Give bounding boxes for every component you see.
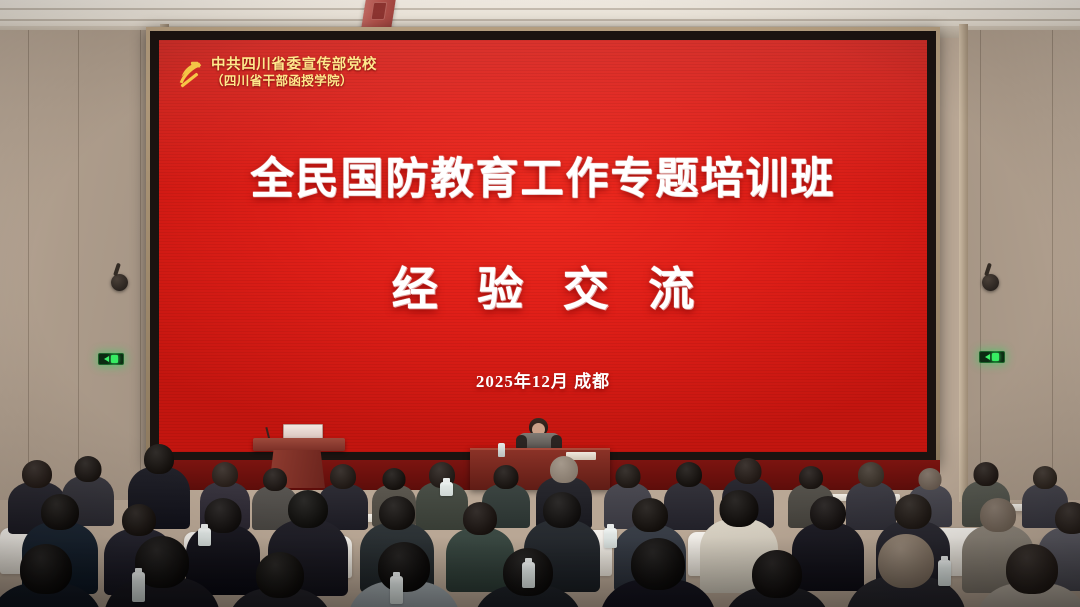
audience-member-head (858, 462, 884, 487)
water-bottle-icon (198, 528, 211, 546)
audience-member-head (383, 468, 406, 490)
audience-member-head (256, 552, 304, 598)
audience-member-head (799, 466, 823, 489)
water-bottle-icon (440, 482, 453, 496)
brand-line-1: 中共四川省委宣传部党校 (211, 57, 377, 74)
audience-member-head (330, 464, 356, 489)
brand-line-2: （四川省干部函授学院） (211, 74, 377, 88)
presentation-title: 全民国防教育工作专题培训班 (159, 144, 927, 206)
audience-member-head (543, 492, 581, 528)
audience-member-head (632, 498, 668, 532)
conference-hall-photo: 中共四川省委宣传部党校 （四川省干部函授学院） 全民国防教育工作专题培训班 经 … (0, 0, 1080, 607)
audience-area (0, 432, 1080, 607)
bottle-cap (941, 556, 948, 561)
bottle-cap (201, 524, 208, 529)
water-bottle-icon (938, 560, 951, 586)
audience-member-head (205, 498, 242, 533)
audience-member-head (494, 465, 519, 489)
left-arrow-icon (985, 354, 990, 360)
audience-member-head (980, 498, 1016, 532)
water-bottle-icon (604, 528, 617, 548)
audience-member-head (1033, 466, 1057, 489)
audience-member-head (974, 462, 999, 486)
audience-member-head (463, 502, 497, 535)
running-person-icon (992, 353, 999, 361)
audience-member-head (631, 538, 685, 590)
audience-member-head (895, 494, 932, 529)
ceiling-lamp-icon (371, 2, 388, 20)
audience-member-head (752, 550, 802, 598)
audience-member-head (122, 504, 156, 536)
audience-member-head (919, 468, 942, 490)
wall-speaker-icon (111, 274, 128, 291)
audience-member-head (676, 462, 702, 487)
audience-member-head (144, 444, 174, 474)
audience-member (228, 552, 332, 607)
water-bottle-icon (132, 572, 145, 602)
exit-sign-icon (979, 351, 1005, 363)
audience-member-head (378, 542, 430, 592)
bottle-cap (393, 572, 400, 577)
exit-sign-icon (98, 353, 124, 365)
audience-member-head (75, 456, 102, 482)
audience-member-head (22, 460, 52, 488)
audience-member-head (878, 534, 934, 588)
water-bottle-icon (522, 562, 535, 588)
bottle-cap (135, 568, 142, 573)
bottle-cap (443, 478, 450, 483)
presentation-date-location: 2025年12月 成都 (159, 367, 927, 392)
left-wall (0, 30, 165, 500)
hammer-and-sickle-icon (175, 58, 205, 88)
bottle-cap (607, 524, 614, 529)
audience-member-head (720, 490, 759, 527)
wall-speaker-icon (982, 274, 999, 291)
audience-member-head (212, 462, 238, 487)
audience-member-head (288, 490, 328, 528)
audience-member-head (41, 494, 79, 530)
audience-member-head (1055, 502, 1080, 534)
audience-member-head (735, 458, 762, 484)
bottle-cap (525, 558, 532, 563)
party-school-branding: 中共四川省委宣传部党校 （四川省干部函授学院） (175, 57, 377, 88)
audience-member (348, 542, 460, 607)
audience-member-head (550, 456, 578, 483)
audience-member-head (20, 544, 72, 594)
left-arrow-icon (104, 356, 109, 362)
audience-member-head (263, 468, 287, 491)
right-wall (962, 30, 1080, 500)
audience-member-head (810, 496, 846, 530)
right-wall-edge (959, 24, 968, 502)
led-screen-frame: 中共四川省委宣传部党校 （四川省干部函授学院） 全民国防教育工作专题培训班 经 … (146, 27, 940, 465)
water-bottle-icon (390, 576, 403, 604)
audience-member (0, 544, 102, 607)
audience-member-head (379, 496, 415, 530)
audience-member (600, 538, 716, 607)
audience-member (976, 544, 1080, 607)
running-person-icon (111, 355, 118, 363)
audience-member (724, 550, 830, 607)
led-screen: 中共四川省委宣传部党校 （四川省干部函授学院） 全民国防教育工作专题培训班 经 … (159, 40, 927, 452)
presentation-subtitle: 经 验 交 流 (159, 253, 927, 319)
audience-member-head (1006, 544, 1058, 594)
audience-member-head (616, 464, 641, 488)
audience-member (104, 536, 220, 607)
